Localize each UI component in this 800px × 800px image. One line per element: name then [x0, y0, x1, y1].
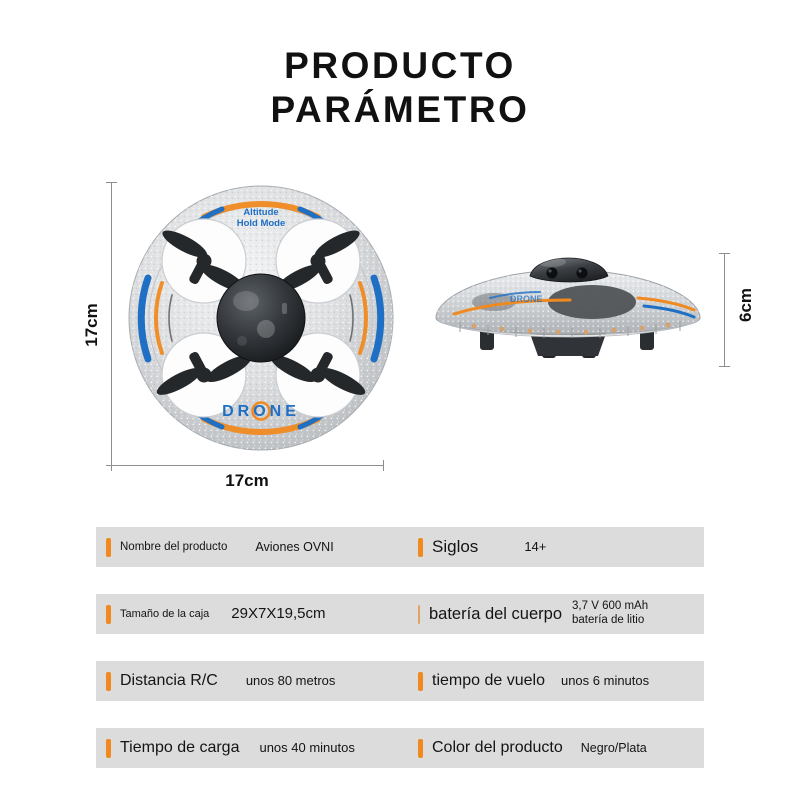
- altitude-mode-label-line1: Altitude: [243, 207, 278, 218]
- spec-label: Siglos: [432, 537, 478, 557]
- table-row: Tiempo de carga unos 40 minutos Color de…: [96, 728, 704, 768]
- row-marker-icon: [418, 538, 423, 557]
- dimension-line-height-right: [724, 253, 725, 366]
- dimension-line-width-bottom: [111, 465, 383, 466]
- spec-cell-left: Tiempo de carga unos 40 minutos: [96, 728, 408, 768]
- spec-value: unos 80 metros: [246, 673, 336, 688]
- spec-cell-right: tiempo de vuelo unos 6 minutos: [408, 661, 704, 701]
- page-title: PRODUCTO PARÁMETRO: [0, 44, 800, 131]
- spec-cell-left: Tamaño de la caja 29X7X19,5cm: [96, 594, 408, 634]
- dimension-line-height-left: [111, 182, 112, 465]
- sensor-hole-right-icon: [577, 268, 588, 279]
- brand-logo-label: DRONE: [222, 403, 300, 420]
- drone-top-view-image: Altitude Hold Mode DRONE: [126, 183, 396, 453]
- altitude-mode-label-line2: Hold Mode: [237, 218, 286, 229]
- dimension-label-width: 17cm: [111, 471, 383, 491]
- row-marker-icon: [106, 739, 111, 758]
- spec-label: Tiempo de carga: [120, 739, 239, 757]
- spec-cell-left: Nombre del producto Aviones OVNI: [96, 527, 408, 567]
- spec-value: unos 6 minutos: [561, 673, 649, 688]
- row-marker-icon: [106, 605, 111, 624]
- drone-side-view-image: DRONE: [432, 240, 704, 380]
- spec-value: Negro/Plata: [581, 741, 647, 756]
- drone-side-view-svg: DRONE: [432, 240, 704, 380]
- row-marker-icon: [418, 672, 423, 691]
- spec-label: Tamaño de la caja: [120, 608, 209, 620]
- page-title-line-1: PRODUCTO: [0, 44, 800, 88]
- spec-label: tiempo de vuelo: [432, 672, 545, 690]
- spec-cell-right: batería del cuerpo 3,7 V 600 mAh batería…: [408, 594, 704, 634]
- spec-value: unos 40 minutos: [259, 740, 354, 755]
- spec-label: Distancia R/C: [120, 672, 218, 690]
- row-marker-icon: [418, 605, 420, 624]
- page-title-line-2: PARÁMETRO: [0, 88, 800, 132]
- spec-cell-left: Distancia R/C unos 80 metros: [96, 661, 408, 701]
- spec-label: Color del producto: [432, 739, 563, 757]
- spec-value: 29X7X19,5cm: [231, 605, 325, 623]
- spec-value: 14+: [524, 539, 546, 554]
- drone-top-view-svg: Altitude Hold Mode DRONE: [126, 183, 396, 453]
- row-marker-icon: [418, 739, 423, 758]
- dimension-tick-right-bottom: [383, 460, 384, 471]
- table-row: Distancia R/C unos 80 metros tiempo de v…: [96, 661, 704, 701]
- sensor-hole-left-icon: [547, 268, 558, 279]
- row-marker-icon: [106, 538, 111, 557]
- row-marker-icon: [106, 672, 111, 691]
- specification-table: Nombre del producto Aviones OVNI Siglos …: [96, 527, 704, 795]
- spec-value: Aviones OVNI: [255, 540, 333, 555]
- table-row: Nombre del producto Aviones OVNI Siglos …: [96, 527, 704, 567]
- spec-cell-right: Siglos 14+: [408, 527, 704, 567]
- dimension-label-side-height: 6cm: [736, 275, 756, 335]
- dimension-tick-bottom-right: [719, 366, 730, 367]
- side-view-brand-label: DRONE: [510, 294, 543, 304]
- dimension-tick-top-right: [719, 253, 730, 254]
- dimension-label-height: 17cm: [82, 295, 102, 355]
- product-illustration: 17cm 17cm 6cm: [0, 150, 800, 510]
- dimension-tick-left-bottom: [111, 460, 112, 471]
- table-row: Tamaño de la caja 29X7X19,5cm batería de…: [96, 594, 704, 634]
- spec-cell-right: Color del producto Negro/Plata: [408, 728, 704, 768]
- spec-label: Nombre del producto: [120, 541, 227, 553]
- spec-value: 3,7 V 600 mAh batería de litio: [572, 600, 648, 627]
- spec-label: batería del cuerpo: [429, 605, 562, 624]
- dimension-tick-top-left: [106, 182, 117, 183]
